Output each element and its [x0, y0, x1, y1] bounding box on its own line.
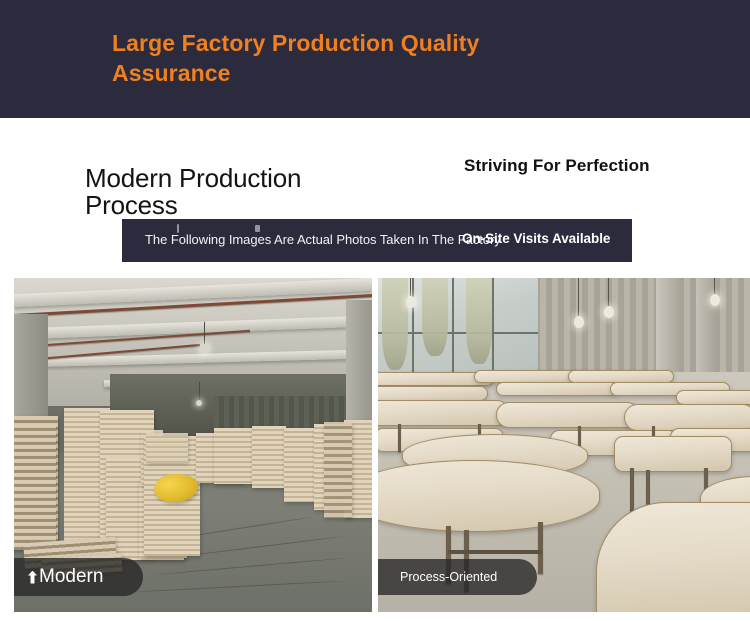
table-top: [496, 382, 618, 396]
lamp-cord: [608, 278, 609, 306]
lamp-cord: [204, 322, 205, 344]
wood-stack: [324, 422, 352, 518]
ceiling-lamp: [200, 344, 209, 353]
table-top: [676, 390, 750, 405]
content-area: Modern Production Process Striving For P…: [0, 118, 750, 621]
notice-primary-text: The Following Images Are Actual Photos T…: [145, 232, 501, 247]
wood-stack: [214, 428, 256, 484]
wood-stack: [14, 424, 56, 550]
table-rail: [448, 550, 542, 554]
photo-caption-text: Process-Oriented: [400, 570, 497, 584]
wood-stack: [252, 426, 286, 488]
hero-banner: Large Factory Production Quality Assuran…: [0, 0, 750, 118]
table-top: [496, 402, 640, 428]
photo-caption-process-oriented: Process-Oriented: [378, 559, 537, 595]
pendant-lamp: [604, 306, 614, 318]
notice-secondary-text: On-Site Visits Available: [462, 231, 610, 246]
window-curtain: [382, 278, 408, 370]
pendant-lamp: [710, 294, 720, 306]
section-tagline: Striving For Perfection: [464, 156, 650, 176]
hero-title: Large Factory Production Quality Assuran…: [112, 28, 542, 89]
gallery-photo-modern[interactable]: Modern: [14, 278, 372, 612]
window-mullion: [412, 278, 414, 382]
window-mullion: [492, 278, 494, 382]
table-leg: [538, 522, 543, 574]
notice-strip: The Following Images Are Actual Photos T…: [122, 219, 632, 262]
window-curtain: [422, 278, 448, 356]
strip-speck-2: [255, 225, 260, 232]
ceiling-lamp: [196, 400, 202, 406]
table-top: [378, 400, 510, 426]
window-mullion: [452, 278, 454, 382]
table-leg: [398, 424, 401, 452]
table-top: [624, 404, 750, 431]
pendant-lamp: [574, 316, 584, 328]
pendant-lamp: [406, 296, 416, 308]
photo-caption-modern: Modern: [14, 558, 143, 596]
photo-caption-text: Modern: [39, 566, 103, 588]
lamp-cord: [410, 278, 411, 296]
gallery-photo-process-oriented[interactable]: Process-Oriented: [378, 278, 750, 612]
table-top: [378, 460, 600, 532]
window-curtain: [466, 278, 492, 364]
wood-stack: [146, 433, 188, 463]
table-top: [596, 502, 750, 612]
up-arrow-marker-icon: [28, 571, 37, 584]
lamp-cord: [714, 278, 715, 294]
lamp-cord: [199, 382, 200, 400]
table-top: [614, 436, 732, 472]
table-top: [378, 386, 488, 401]
section-heading: Modern Production Process: [85, 165, 375, 220]
photo-gallery: Modern: [0, 278, 750, 612]
lamp-cord: [578, 278, 579, 316]
